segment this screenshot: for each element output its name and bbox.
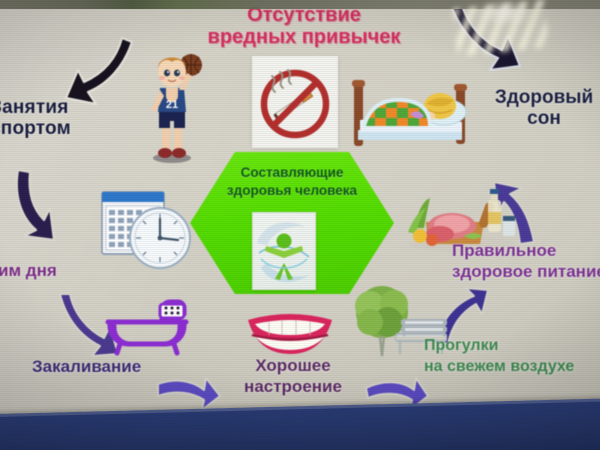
arrow-sports-to-habits bbox=[62, 36, 138, 110]
no-smoking-sign-illustration bbox=[252, 56, 338, 148]
slide-content-layer: Составляющие здоровья человека bbox=[0, 0, 600, 450]
label-healthy-nutrition-line1: Правильное bbox=[452, 241, 556, 260]
photo-blur-layer: Составляющие здоровья человека bbox=[0, 0, 600, 450]
label-good-mood-line2: настроение bbox=[244, 377, 342, 396]
label-healthy-nutrition-line2: здоровое питание bbox=[452, 262, 600, 281]
label-good-mood: Хорошее настроение bbox=[226, 356, 360, 397]
hexagon-title-line1: Составляющие bbox=[241, 165, 344, 180]
label-good-mood-line1: Хорошее bbox=[255, 356, 330, 375]
calendar-clock-illustration bbox=[98, 188, 194, 274]
label-sports-line2: спортом bbox=[0, 118, 71, 139]
svg-text:21: 21 bbox=[166, 99, 178, 111]
basketball-player-illustration: 21 bbox=[146, 48, 202, 164]
label-fresh-air-walks-line1: Прогулки bbox=[424, 337, 498, 354]
label-sports: Занятия спортом bbox=[0, 98, 71, 140]
label-bad-habits-line2: вредных привычек bbox=[208, 26, 401, 48]
label-healthy-sleep-line2: сон bbox=[527, 108, 561, 129]
hexagon-title: Составляющие здоровья человека bbox=[190, 164, 394, 200]
health-figure-logo bbox=[252, 212, 316, 290]
label-bad-habits: Отсутствие вредных привычек bbox=[188, 4, 420, 48]
arrow-sports-to-regime bbox=[10, 168, 74, 242]
screen-top-bezel bbox=[0, 0, 600, 9]
smiling-mouth-illustration bbox=[242, 310, 338, 356]
arrow-habits-to-sleep bbox=[446, 4, 524, 76]
label-healthy-sleep-line1: Здоровый bbox=[495, 87, 593, 108]
screenshot-root: Составляющие здоровья человека bbox=[0, 0, 600, 450]
bed-sleeping-child-illustration bbox=[348, 72, 474, 154]
label-healthy-nutrition: Правильное здоровое питание bbox=[452, 240, 600, 283]
label-daily-regime: жим дня bbox=[0, 262, 57, 281]
label-healthy-sleep: Здоровый сон bbox=[492, 88, 596, 130]
label-sports-line1: Занятия bbox=[0, 97, 69, 118]
hexagon-title-line2: здоровья человека bbox=[227, 183, 357, 198]
label-fresh-air-walks: Прогулки на свежем воздухе bbox=[424, 336, 600, 378]
label-hardening: Закаливание bbox=[32, 358, 141, 377]
bathtub-shower-icon bbox=[104, 292, 190, 356]
label-fresh-air-walks-line2: на свежем воздухе bbox=[424, 358, 574, 375]
